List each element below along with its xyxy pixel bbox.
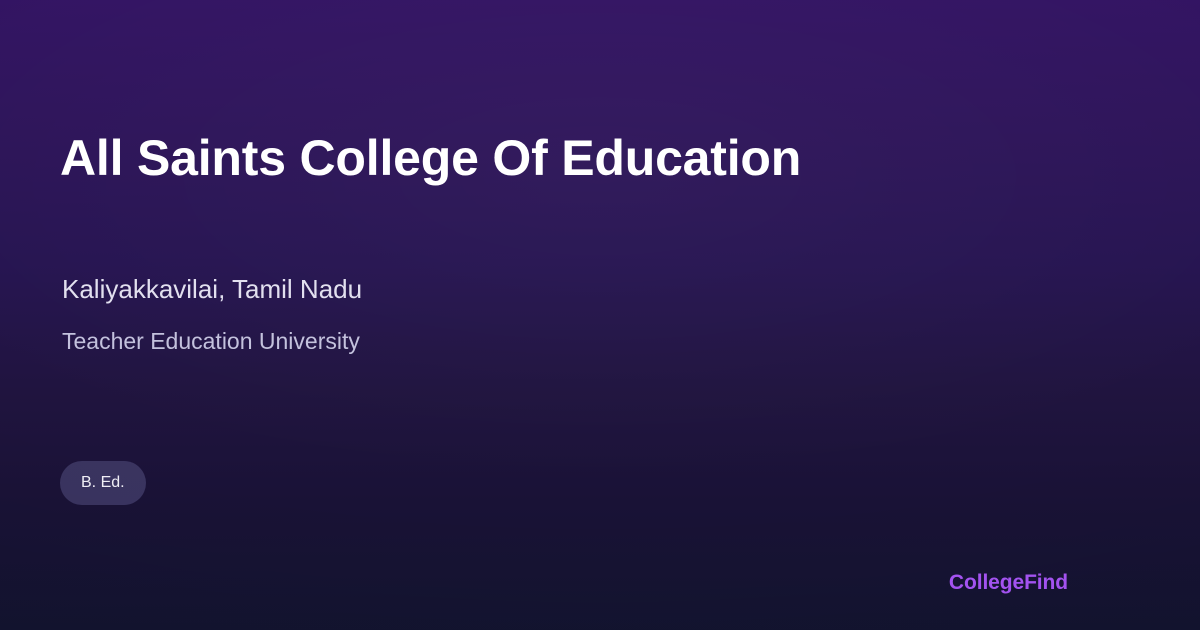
brand-logo-text: CollegeFind bbox=[949, 570, 1068, 596]
college-location: Kaliyakkavilai, Tamil Nadu bbox=[62, 272, 362, 306]
course-tag-badge: B. Ed. bbox=[60, 461, 146, 505]
college-category: Teacher Education University bbox=[62, 326, 360, 356]
college-share-card: All Saints College Of Education Kaliyakk… bbox=[0, 0, 1200, 630]
card-content: All Saints College Of Education Kaliyakk… bbox=[60, 0, 1140, 630]
course-tag-list: B. Ed. bbox=[60, 461, 146, 505]
college-name-title: All Saints College Of Education bbox=[60, 128, 801, 188]
